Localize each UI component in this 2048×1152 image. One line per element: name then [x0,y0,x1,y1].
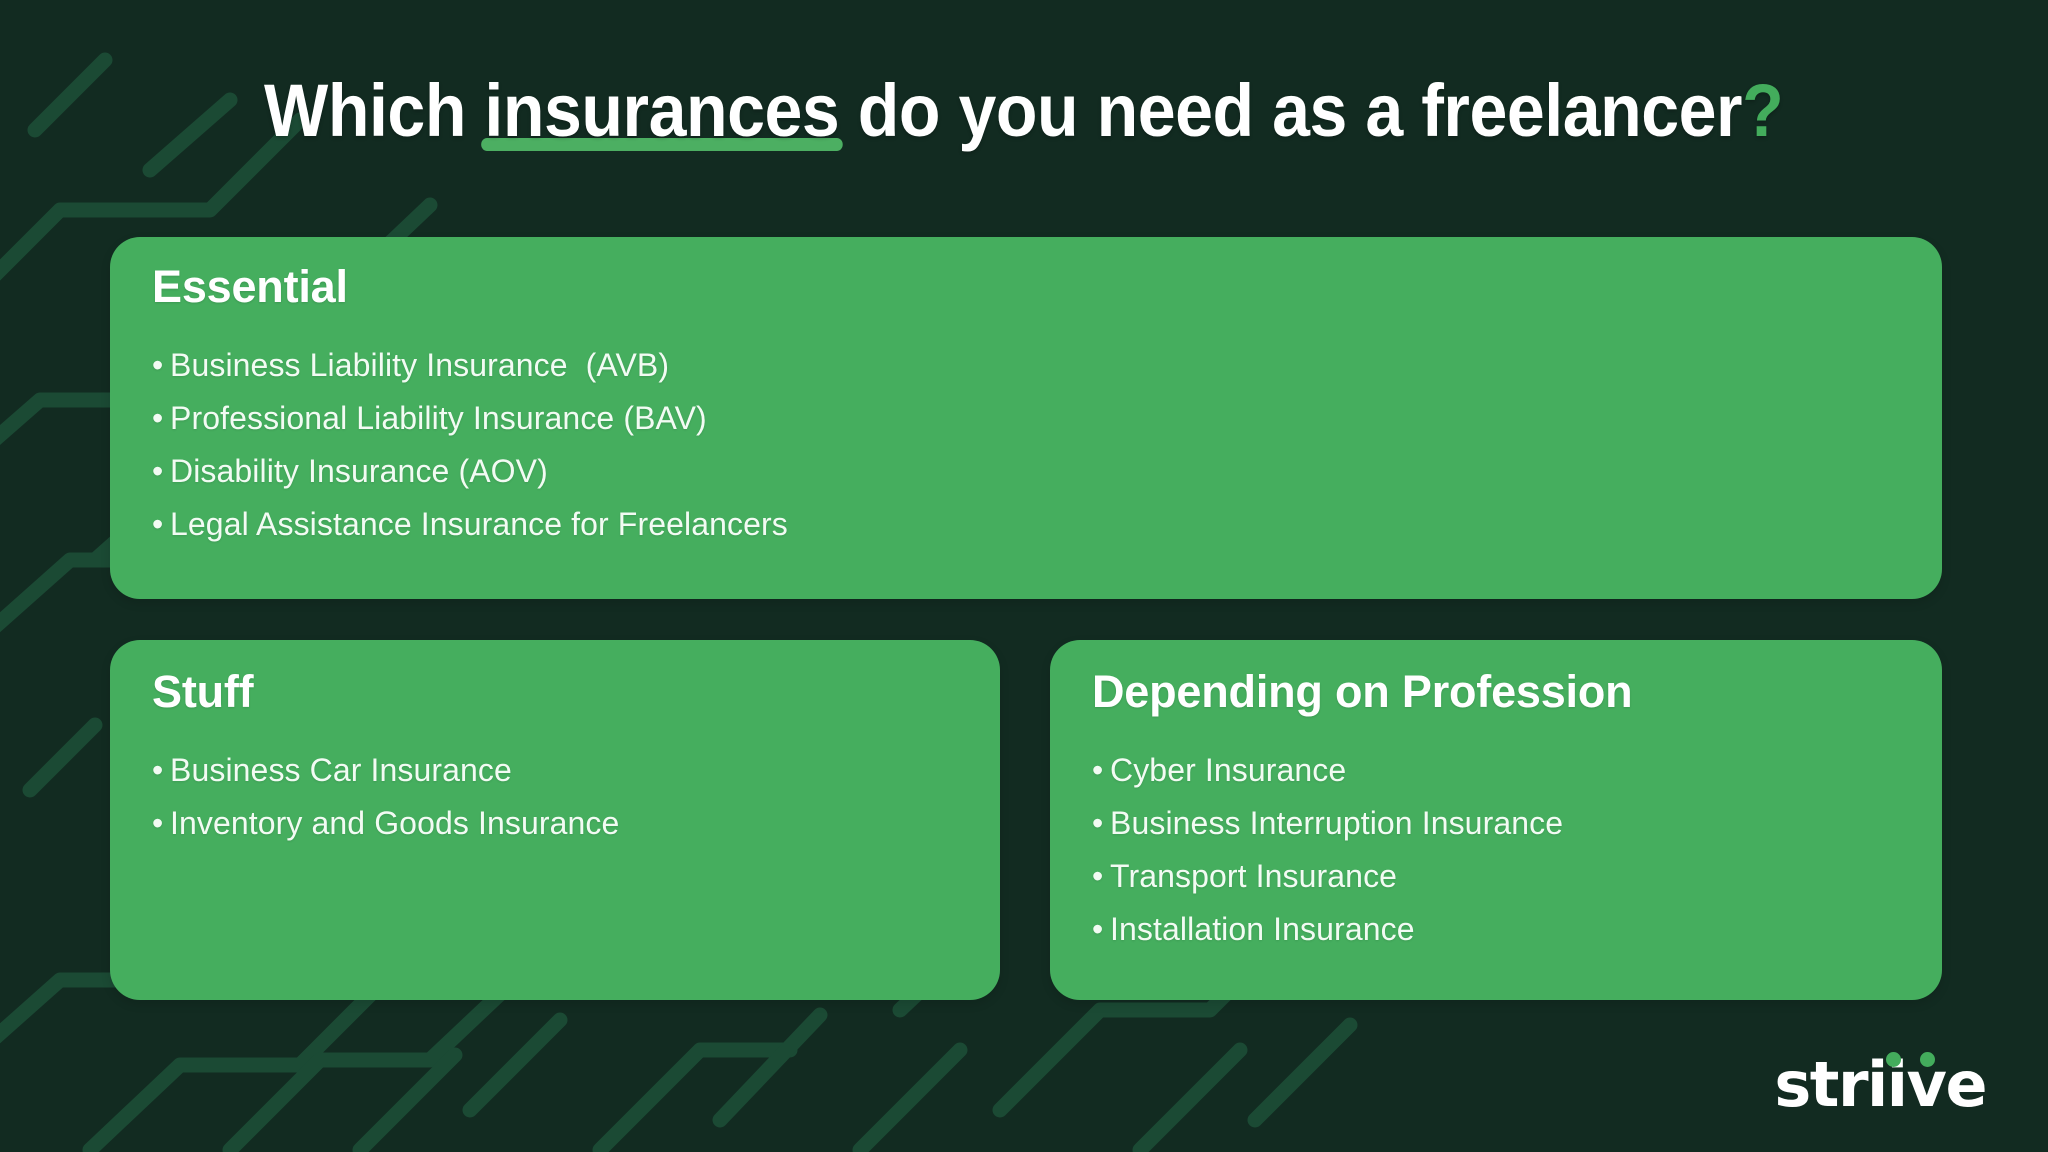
card-profession-list: •Cyber Insurance •Business Interruption … [1092,744,1942,956]
bullet-icon: • [152,339,170,392]
page-title-container: Which insurances do you need as a freela… [0,74,2048,148]
title-highlight-text: insurances [485,69,840,152]
list-item-label: Business Car Insurance [170,752,512,788]
list-item: •Transport Insurance [1092,850,1942,903]
title-question-mark: ? [1742,69,1783,152]
page-title: Which insurances do you need as a freela… [264,74,1783,148]
list-item: •Business Interruption Insurance [1092,797,1942,850]
list-item: •Inventory and Goods Insurance [152,797,1000,850]
list-item-label: Installation Insurance [1110,911,1415,947]
bullet-icon: • [1092,797,1110,850]
list-item: •Legal Assistance Insurance for Freelanc… [152,498,1942,551]
list-item-label: Business Liability Insurance (AVB) [170,347,669,383]
list-item: •Installation Insurance [1092,903,1942,956]
card-stuff-list: •Business Car Insurance •Inventory and G… [152,744,1000,850]
list-item: •Business Liability Insurance (AVB) [152,339,1942,392]
bullet-icon: • [1092,744,1110,797]
card-depending-on-profession: Depending on Profession •Cyber Insurance… [1050,640,1942,1000]
bullet-icon: • [152,498,170,551]
list-item-label: Disability Insurance (AOV) [170,453,548,489]
list-item-label: Business Interruption Insurance [1110,805,1563,841]
striive-logo-text: striive [1774,1054,1986,1116]
bullet-icon: • [152,445,170,498]
card-essential-list: •Business Liability Insurance (AVB) •Pro… [152,339,1942,551]
list-item: •Business Car Insurance [152,744,1000,797]
card-essential-title: Essential [152,261,1942,313]
bullet-icon: • [152,392,170,445]
title-part-2: do you need as a freelancer [840,69,1743,152]
list-item: •Cyber Insurance [1092,744,1942,797]
card-stuff: Stuff •Business Car Insurance •Inventory… [110,640,1000,1000]
title-highlight-insurances: insurances [485,74,840,148]
list-item: •Disability Insurance (AOV) [152,445,1942,498]
bullet-icon: • [1092,903,1110,956]
list-item-label: Cyber Insurance [1110,752,1346,788]
bullet-icon: • [152,797,170,850]
bullet-icon: • [152,744,170,797]
title-part-1: Which [264,69,484,152]
card-profession-title: Depending on Profession [1092,666,1942,718]
list-item: •Professional Liability Insurance (BAV) [152,392,1942,445]
list-item-label: Professional Liability Insurance (BAV) [170,400,707,436]
card-stuff-title: Stuff [152,666,1000,718]
list-item-label: Legal Assistance Insurance for Freelance… [170,506,788,542]
card-essential: Essential •Business Liability Insurance … [110,237,1942,599]
list-item-label: Inventory and Goods Insurance [170,805,619,841]
striive-logo: striive [1774,1054,1986,1116]
striive-logo-wordmark: striive [1774,1048,1986,1121]
list-item-label: Transport Insurance [1110,858,1397,894]
bullet-icon: • [1092,850,1110,903]
